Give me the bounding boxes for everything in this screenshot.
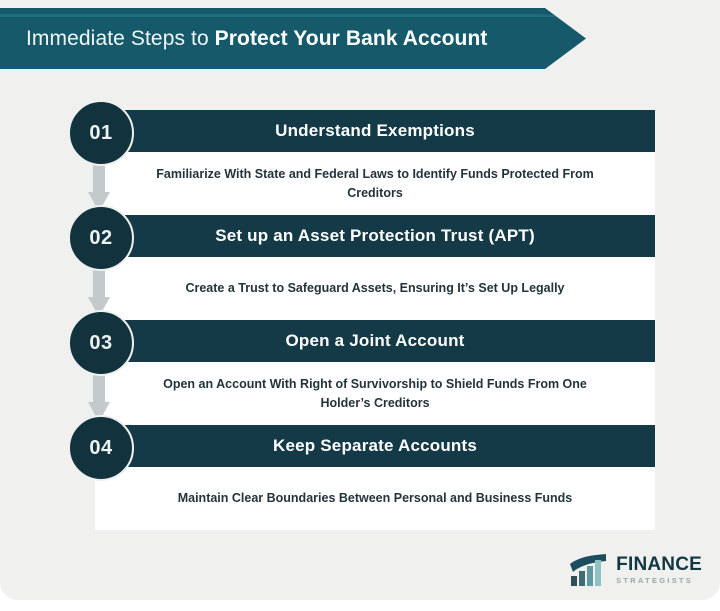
header-banner: Immediate Steps to Protect Your Bank Acc… [0, 8, 586, 69]
step-title: Keep Separate Accounts [203, 437, 547, 456]
step-description-panel: Maintain Clear Boundaries Between Person… [95, 467, 655, 530]
step-number: 01 [89, 122, 112, 145]
step-number: 02 [89, 227, 112, 250]
step-number-badge: 03 [68, 310, 134, 376]
page-title-normal: Immediate Steps to [26, 27, 215, 50]
step-title-bar: Set up an Asset Protection Trust (APT) [95, 215, 655, 257]
steps-list: Understand Exemptions 01 Familiarize Wit… [0, 110, 720, 525]
step-title-bar: Understand Exemptions [95, 110, 655, 152]
step-description: Familiarize With State and Federal Laws … [95, 165, 655, 201]
step-item: Keep Separate Accounts 04 Maintain Clear… [0, 425, 720, 525]
step-description: Create a Trust to Safeguard Assets, Ensu… [137, 279, 612, 297]
step-number: 03 [89, 332, 112, 355]
bar-chart-swoosh-icon [568, 553, 610, 587]
infographic-root: Immediate Steps to Protect Your Bank Acc… [0, 0, 720, 611]
brand-logo-text: FINANCE STRATEGISTS [616, 555, 702, 584]
step-item: Understand Exemptions 01 Familiarize Wit… [0, 110, 720, 215]
step-description-panel: Open an Account With Right of Survivorsh… [95, 362, 655, 425]
step-title: Understand Exemptions [205, 122, 545, 141]
header-banner-highlight [0, 14, 580, 17]
step-number-badge: 01 [68, 100, 134, 166]
step-item: Open a Joint Account 03 Open an Account … [0, 320, 720, 425]
step-title-bar: Open a Joint Account [95, 320, 655, 362]
step-number-badge: 02 [68, 205, 134, 271]
step-description-panel: Familiarize With State and Federal Laws … [95, 152, 655, 215]
step-title: Set up an Asset Protection Trust (APT) [145, 227, 605, 246]
page-title: Immediate Steps to Protect Your Bank Acc… [26, 27, 487, 51]
step-number: 04 [89, 437, 112, 460]
step-description: Maintain Clear Boundaries Between Person… [130, 489, 621, 507]
brand-subtitle: STRATEGISTS [616, 577, 702, 584]
page-title-bold: Protect Your Bank Account [215, 27, 488, 50]
brand-name: FINANCE [616, 555, 702, 574]
step-title-bar: Keep Separate Accounts [95, 425, 655, 467]
brand-logo: FINANCE STRATEGISTS [568, 553, 702, 587]
step-title: Open a Joint Account [215, 332, 534, 351]
step-description-panel: Create a Trust to Safeguard Assets, Ensu… [95, 257, 655, 320]
step-number-badge: 04 [68, 415, 134, 481]
step-description: Open an Account With Right of Survivorsh… [95, 375, 655, 411]
step-item: Set up an Asset Protection Trust (APT) 0… [0, 215, 720, 320]
